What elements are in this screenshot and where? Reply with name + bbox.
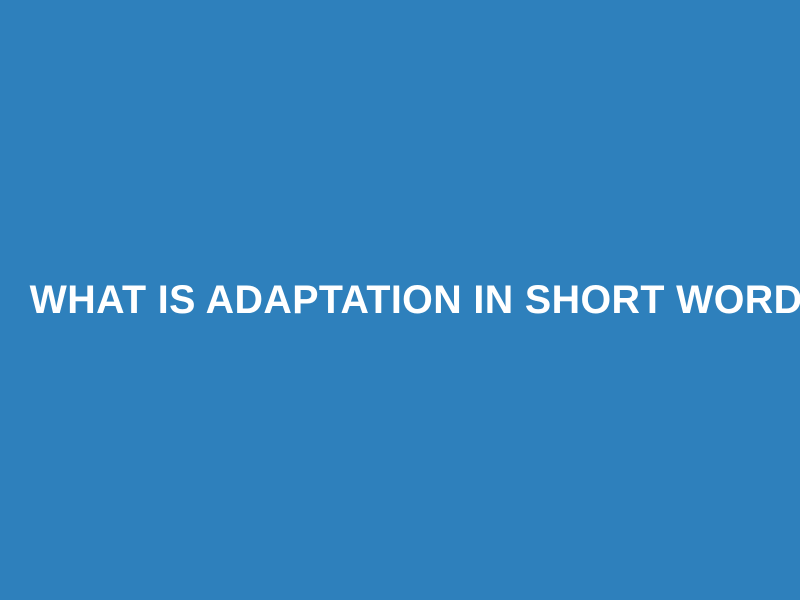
title-card-canvas: WHAT IS ADAPTATION IN SHORT WORDS? [0,0,800,600]
headline-block: WHAT IS ADAPTATION IN SHORT WORDS? [0,277,800,323]
page-title: WHAT IS ADAPTATION IN SHORT WORDS? [30,277,771,323]
